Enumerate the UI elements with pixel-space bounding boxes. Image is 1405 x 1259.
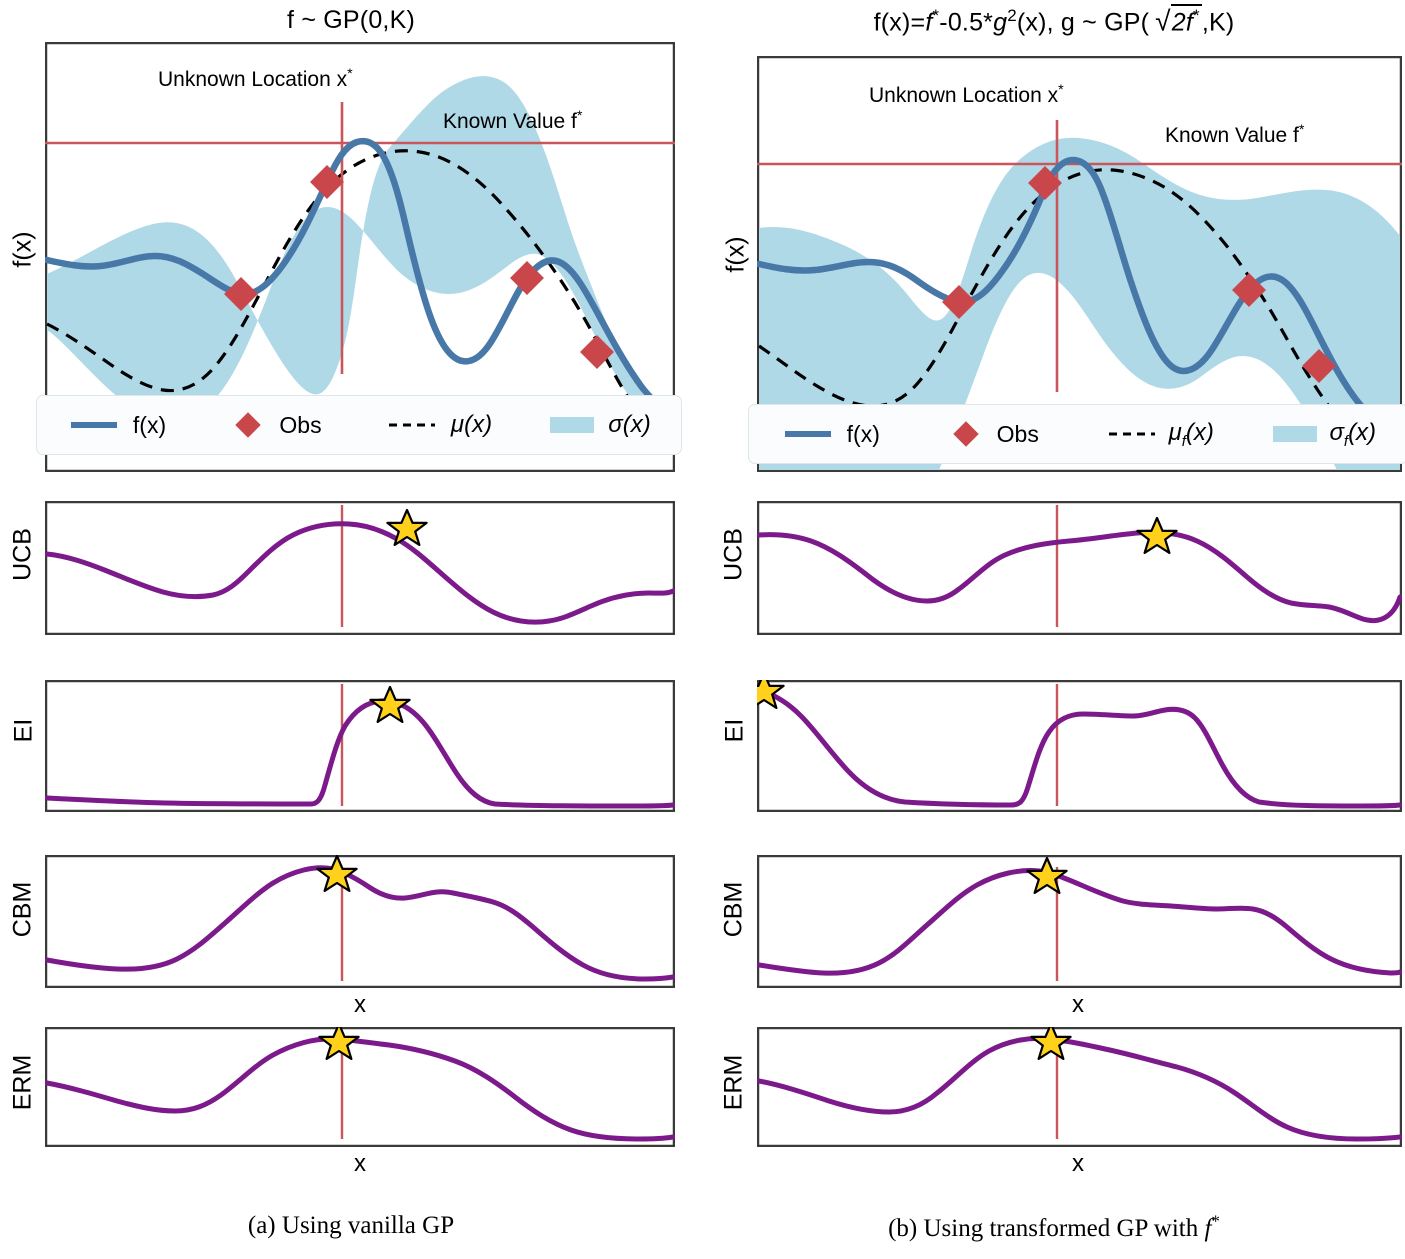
panel-a-cbm xyxy=(45,855,675,988)
panel-a-erm-frame xyxy=(46,1028,674,1146)
panel-b-ei-svg xyxy=(757,680,1402,812)
legend-label-sigma: σ(x) xyxy=(608,411,650,439)
caption-a-text: (a) Using vanilla GP xyxy=(248,1212,454,1239)
panel-b-ei-ylabel: EI xyxy=(721,696,750,766)
panel-a-known-value-text: Known Value f xyxy=(443,110,577,133)
panel-b-ucb-svg xyxy=(757,501,1402,635)
panel-a-title-text: f ~ GP(0,K) xyxy=(287,6,415,34)
panel-b-ei xyxy=(757,680,1402,812)
panel-a-ucb xyxy=(45,501,675,635)
panel-b-title-p7: ,K) xyxy=(1202,8,1235,36)
panel-a-erm-xlabel: x xyxy=(330,1150,390,1178)
panel-b-title-radical: √ xyxy=(1155,5,1171,36)
panel-b-gp-ylabel: f(x) xyxy=(722,220,751,290)
column-b: f(x)=f*-0.5*g2(x), g ~ GP( √2f* ,K) f(x) xyxy=(703,0,1405,1259)
legend-label-obs: Obs xyxy=(279,412,321,439)
panel-b-legend: f(x) Obs μf(x) σf(x) xyxy=(748,404,1405,464)
panel-b-erm xyxy=(757,1027,1402,1147)
panel-a-known-value-sup: * xyxy=(577,108,583,124)
panel-b-gp-ylabel-text: f(x) xyxy=(722,236,750,272)
panel-b-cbm-frame xyxy=(758,856,1401,987)
panel-b-title-p6: 2f xyxy=(1172,8,1193,36)
panel-b-erm-xlabel: x xyxy=(1048,1150,1108,1178)
panel-a-title: f ~ GP(0,K) xyxy=(0,6,702,35)
panel-b-title-p4: g xyxy=(993,8,1007,36)
panel-b-cbm-xlabel-text: x xyxy=(1072,991,1084,1018)
legend-label-mu: μ(x) xyxy=(451,411,492,439)
panel-b-unknown-location-text: Unknown Location x xyxy=(869,84,1058,107)
panel-a-cbm-ylabel-text: CBM xyxy=(9,882,37,938)
panel-a-ei-ylabel-text: EI xyxy=(10,719,38,743)
legend-line-swatch xyxy=(69,419,119,431)
caption-a: (a) Using vanilla GP xyxy=(0,1212,702,1240)
panel-b-erm-svg xyxy=(757,1027,1402,1147)
legend-label-sigma: σf(x) xyxy=(1329,419,1376,450)
legend-item-sigma: σ(x) xyxy=(520,411,681,439)
legend-label-obs: Obs xyxy=(997,421,1039,448)
panel-b-unknown-location-annotation: Unknown Location x* xyxy=(869,82,1064,108)
panel-b-title-p3: -0.5* xyxy=(939,8,993,36)
panel-a-known-value-annotation: Known Value f* xyxy=(443,108,582,134)
panel-b-gp: Unknown Location x* Known Value f* f(x) … xyxy=(757,56,1402,472)
legend-item-f: f(x) xyxy=(37,412,198,439)
panel-a-erm-ylabel-text: ERM xyxy=(9,1055,37,1111)
legend-label-f: f(x) xyxy=(133,412,166,439)
panel-b-title-p5: (x), g ~ GP( xyxy=(1017,8,1149,36)
panel-a-erm xyxy=(45,1027,675,1147)
panel-b-known-value-sup: * xyxy=(1299,122,1305,138)
panel-b-cbm-svg xyxy=(757,855,1402,988)
panel-a-ucb-svg xyxy=(45,501,675,635)
panel-a-erm-xlabel-text: x xyxy=(354,1150,366,1177)
panel-b-known-value-annotation: Known Value f* xyxy=(1165,122,1304,148)
legend-item-mu: μf(x) xyxy=(1078,419,1243,450)
caption-b-text: (b) Using transformed GP with f* xyxy=(888,1215,1220,1242)
legend-label-mu: μf(x) xyxy=(1169,419,1214,450)
panel-b-cbm xyxy=(757,855,1402,988)
panel-b-unknown-location-sup: * xyxy=(1058,82,1064,98)
panel-b-ucb-ylabel-text: UCB xyxy=(720,528,748,581)
legend-item-f: f(x) xyxy=(749,421,914,448)
legend-dashed-swatch xyxy=(1107,428,1157,440)
legend-item-mu: μ(x) xyxy=(359,411,520,439)
panel-b-ei-frame xyxy=(758,681,1401,811)
panel-b-erm-xlabel-text: x xyxy=(1072,1150,1084,1177)
legend-label-f: f(x) xyxy=(847,421,880,448)
panel-a-ei-frame xyxy=(46,681,674,811)
figure-root: f ~ GP(0,K) f(x) xyxy=(0,0,1405,1259)
legend-band-swatch xyxy=(1273,424,1317,444)
panel-a-unknown-location-sup: * xyxy=(347,66,353,82)
legend-band-swatch xyxy=(550,415,594,435)
caption-b: (b) Using transformed GP with f* xyxy=(703,1212,1405,1243)
panel-a-gp-ylabel-text: f(x) xyxy=(9,231,37,267)
panel-b-cbm-ylabel: CBM xyxy=(720,867,749,953)
panel-b-title-p1: f(x)= xyxy=(874,8,926,36)
panel-b-title-sup3: * xyxy=(1193,6,1200,25)
panel-b-erm-ylabel-text: ERM xyxy=(720,1055,748,1111)
panel-a-ucb-ylabel: UCB xyxy=(9,515,38,595)
panel-a-gp: Unknown Location x* Known Value f* f(x) … xyxy=(45,42,675,472)
panel-b-cbm-ylabel-text: CBM xyxy=(720,882,748,938)
panel-b-ucb xyxy=(757,501,1402,635)
panel-b-title-sup2: 2 xyxy=(1007,6,1017,25)
panel-a-cbm-xlabel-text: x xyxy=(354,991,366,1018)
panel-a-erm-ylabel: ERM xyxy=(9,1040,38,1126)
panel-a-cbm-xlabel: x xyxy=(330,991,390,1019)
legend-item-obs: Obs xyxy=(198,412,359,439)
panel-a-unknown-location-text: Unknown Location x xyxy=(158,68,347,91)
panel-a-unknown-location-annotation: Unknown Location x* xyxy=(158,66,353,92)
panel-a-erm-svg xyxy=(45,1027,675,1147)
legend-item-obs: Obs xyxy=(914,421,1079,448)
panel-a-gp-ylabel: f(x) xyxy=(9,215,38,285)
panel-a-ucb-ylabel-text: UCB xyxy=(9,528,37,581)
panel-a-legend: f(x) Obs μ(x) σ(x) xyxy=(36,395,682,455)
legend-dashed-swatch xyxy=(387,419,437,431)
panel-b-known-value-text: Known Value f xyxy=(1165,124,1299,147)
panel-a-cbm-ylabel: CBM xyxy=(9,867,38,953)
panel-a-ucb-frame xyxy=(46,502,674,634)
legend-line-swatch xyxy=(783,428,833,440)
panel-b-title: f(x)=f*-0.5*g2(x), g ~ GP( √2f* ,K) xyxy=(703,4,1405,37)
panel-a-ei-ylabel: EI xyxy=(10,696,39,766)
panel-a-cbm-svg xyxy=(45,855,675,988)
panel-b-ucb-ylabel: UCB xyxy=(720,515,749,595)
panel-b-erm-ylabel: ERM xyxy=(720,1040,749,1126)
legend-item-sigma: σf(x) xyxy=(1243,419,1405,450)
panel-a-ei xyxy=(45,680,675,812)
panel-a-ei-svg xyxy=(45,680,675,812)
legend-diamond-swatch xyxy=(953,421,979,447)
panel-b-ei-ylabel-text: EI xyxy=(721,719,749,743)
legend-diamond-swatch xyxy=(235,412,261,438)
column-a: f ~ GP(0,K) f(x) xyxy=(0,0,702,1259)
panel-b-cbm-xlabel: x xyxy=(1048,991,1108,1019)
